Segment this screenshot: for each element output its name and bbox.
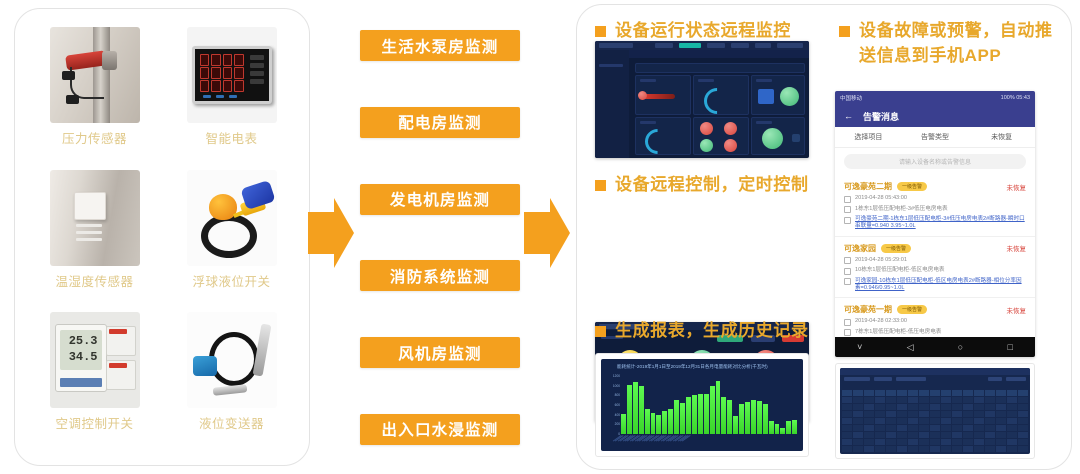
alarm-device: 7栋东1层低压配电柜-低压电房电表 <box>855 329 941 336</box>
table-row[interactable] <box>842 411 1028 417</box>
phone-filter-bar: 选择项目 告警类型 未恢复 <box>835 127 1035 148</box>
chart-bar <box>733 416 738 434</box>
info-icon <box>844 217 851 224</box>
dashboard-screenshot[interactable] <box>595 41 809 158</box>
scenario-button-water-pump-room[interactable]: 生活水泵房监测 <box>360 30 520 61</box>
chart-bar <box>792 420 797 435</box>
sensor-label: 空调控制开关 <box>55 413 133 432</box>
device-icon <box>844 329 851 336</box>
device-icon <box>844 268 851 275</box>
phone-nav-bar: ← 告警消息 <box>835 105 1035 127</box>
chart-bars <box>621 376 797 434</box>
chart-bar <box>745 402 750 434</box>
chart-bar <box>680 403 685 434</box>
chart-bar <box>751 400 756 434</box>
table-row[interactable] <box>842 397 1028 403</box>
chart-bar <box>645 409 650 434</box>
clock-icon <box>844 196 851 203</box>
chart-bar <box>639 386 644 434</box>
temperature-humidity-sensor-photo <box>50 170 140 266</box>
chart-bar <box>633 382 638 434</box>
chart-bar <box>692 395 697 434</box>
sensor-item-float-switch[interactable]: 浮球液位开关 <box>166 170 297 309</box>
sensor-item-smart-meter[interactable]: 智能电表 <box>166 27 297 166</box>
monitoring-scenario-list: 生活水泵房监测 配电房监测 发电机房监测 消防系统监测 风机房监测 出入口水浸监… <box>360 30 520 445</box>
sensor-label: 压力传感器 <box>62 128 127 147</box>
sensor-item-ac-switch[interactable]: 25.3 34.5 空调控制开关 <box>29 312 160 451</box>
chart-bar <box>627 385 632 434</box>
chart-y-tick: 800 <box>615 393 620 397</box>
chart-bar <box>786 421 791 434</box>
chart-bar <box>651 413 656 434</box>
table-row[interactable] <box>842 404 1028 410</box>
chart-bar <box>686 397 691 434</box>
chart-bar <box>704 394 709 434</box>
dashboard-card-pump <box>751 75 805 115</box>
feature-heading-control: 设备远程控制，定时控制 <box>595 173 831 198</box>
chevron-down-icon[interactable]: ˅ <box>857 342 862 352</box>
alarm-detail[interactable]: 可逸豪苑二期-1栋东1层低压配电柜-3#低压电房电表2#断路器-瞬时口串联量=0… <box>855 216 1026 231</box>
alarm-status-label: 未恢复 <box>1007 305 1027 315</box>
filter-alarm-type[interactable]: 告警类型 <box>902 132 969 142</box>
bullet-square-icon <box>595 180 606 191</box>
feature-heading-push: 设备故障或预警，自动推送信息到手机APP <box>839 19 1057 68</box>
sensor-label: 智能电表 <box>205 128 257 147</box>
table-row[interactable] <box>842 425 1028 431</box>
alarm-list-item[interactable]: 可逸家园 一级告警 未恢复 2019-04-28 05:29:01 10栋东1层… <box>835 237 1035 299</box>
alarm-project-name: 可逸家园 <box>844 243 876 254</box>
alarm-time: 2019-04-28 05:29:01 <box>855 257 907 264</box>
chart-bar <box>769 421 774 434</box>
air-conditioner-control-switch-photo: 25.3 34.5 <box>50 312 140 408</box>
table-row[interactable] <box>842 432 1028 438</box>
chart-bar <box>727 400 732 434</box>
phone-nav-title: 告警消息 <box>863 110 899 123</box>
battery-time-label: 100% 05:43 <box>1001 95 1030 101</box>
bullet-square-icon <box>839 26 850 37</box>
platform-features-panel: 设备运行状态远程监控 设备故障或预警，自动推送信息到手机APP <box>576 4 1072 470</box>
mobile-app-screenshot[interactable]: 中国移动 100% 05:43 ← 告警消息 选择项目 告警类型 未恢复 请输入… <box>835 91 1035 357</box>
alarm-project-name: 可逸豪苑一期 <box>844 304 892 315</box>
alarm-level-badge: 一级告警 <box>881 244 911 253</box>
chart-x-axis <box>621 435 797 449</box>
chart-bar <box>739 404 744 434</box>
back-triangle-icon[interactable]: ◁ <box>907 342 914 353</box>
sensor-item-temp-humidity[interactable]: 温湿度传感器 <box>29 170 160 309</box>
bullet-square-icon <box>595 26 606 37</box>
clock-icon <box>844 257 851 264</box>
table-row[interactable] <box>842 446 1028 452</box>
chart-y-tick: 1200 <box>613 374 620 378</box>
sensor-item-pressure[interactable]: 压力传感器 <box>29 27 160 166</box>
info-icon <box>844 278 851 285</box>
carrier-label: 中国移动 <box>840 94 862 102</box>
phone-system-nav: ˅ ◁ ○ □ <box>835 337 1035 357</box>
bullet-square-icon <box>595 326 606 337</box>
scenario-button-entrance-flood[interactable]: 出入口水浸监测 <box>360 414 520 445</box>
dashboard-card-cabinet <box>693 117 749 155</box>
chart-bar <box>698 394 703 434</box>
chart-canvas: 能耗统计-2019年1月1日至2019年12月31日各月电量能耗对比分析(千瓦时… <box>601 359 803 451</box>
alarm-device: 10栋东1层低压配电柜-低区电房电表 <box>855 267 945 274</box>
alarm-level-badge: 一级告警 <box>897 182 927 191</box>
scenario-button-distribution-room[interactable]: 配电房监测 <box>360 107 520 138</box>
alarm-device: 1栋东1层低压配电柜-3#低压电房电表 <box>855 206 948 213</box>
home-circle-icon[interactable]: ○ <box>958 342 963 352</box>
filter-status[interactable]: 未恢复 <box>968 132 1035 142</box>
chart-bar <box>621 414 626 434</box>
chart-bar <box>710 386 715 434</box>
table-row[interactable] <box>842 439 1028 445</box>
alarm-list-item[interactable]: 可逸豪苑一期 一级告警 未恢复 2019-04-28 02:33:00 7栋东1… <box>835 298 1035 342</box>
clock-icon <box>844 319 851 326</box>
chart-bar <box>662 411 667 434</box>
chart-bar <box>716 381 721 434</box>
alarm-time: 2019-04-28 05:43:00 <box>855 195 907 202</box>
energy-bar-chart-screenshot[interactable]: 能耗统计-2019年1月1日至2019年12月31日各月电量能耗对比分析(千瓦时… <box>595 353 809 457</box>
alarm-list-item[interactable]: 可逸豪苑二期 一级告警 未恢复 2019-04-28 05:43:00 1栋东1… <box>835 175 1035 237</box>
chart-bar <box>775 424 780 434</box>
alarm-time: 2019-04-28 02:33:00 <box>855 318 907 325</box>
infographic-stage: 压力传感器 智能电表 <box>0 0 1080 474</box>
level-transmitter-photo <box>187 312 277 408</box>
table-header-row <box>842 390 1028 396</box>
recents-square-icon[interactable]: □ <box>1007 342 1012 352</box>
chart-y-tick: 1000 <box>613 384 620 388</box>
sensor-grid: 压力传感器 智能电表 <box>29 27 297 451</box>
table-row[interactable] <box>842 418 1028 424</box>
phone-search-input[interactable]: 请输入设备名称或告警信息 <box>844 154 1026 169</box>
chart-bar <box>757 401 762 434</box>
chart-bar <box>656 415 661 434</box>
report-table <box>840 368 1030 454</box>
phone-status-bar: 中国移动 100% 05:43 <box>835 91 1035 105</box>
sensor-label: 温湿度传感器 <box>55 271 133 290</box>
chart-bar <box>674 400 679 434</box>
chart-bar <box>763 404 768 434</box>
chart-y-tick: 600 <box>615 403 620 407</box>
arrow-left-icon[interactable]: ← <box>844 111 853 121</box>
alarm-status-label: 未恢复 <box>1007 243 1027 253</box>
alarm-detail[interactable]: 可逸家园-10栋东1层低压配电柜-低区电房电表2#断路器-相位分率因素=0.94… <box>855 278 1026 293</box>
scenario-button-fire-system[interactable]: 消防系统监测 <box>360 260 520 291</box>
sensor-item-level-transmitter[interactable]: 液位变送器 <box>166 312 297 451</box>
alarm-status-label: 未恢复 <box>1007 182 1027 192</box>
dashboard-card-pressure <box>635 75 691 115</box>
feature-heading-report: 生成报表，生成历史记录 <box>595 319 831 344</box>
chart-bar <box>780 428 785 434</box>
scenario-button-fan-room[interactable]: 风机房监测 <box>360 337 520 368</box>
sensor-label: 浮球液位开关 <box>192 271 270 290</box>
filter-project[interactable]: 选择项目 <box>835 132 902 142</box>
chart-y-tick: 200 <box>615 422 620 426</box>
scenario-button-generator-room[interactable]: 发电机房监测 <box>360 184 520 215</box>
float-level-switch-photo <box>187 170 277 266</box>
smart-meter-photo <box>187 27 277 123</box>
sensor-devices-panel: 压力传感器 智能电表 <box>14 8 310 466</box>
report-table-screenshot[interactable] <box>835 363 1035 459</box>
chart-y-axis: 120010008006004002000 <box>605 374 620 436</box>
dashboard-card-level <box>635 117 691 155</box>
chart-bar <box>668 409 673 434</box>
feature-heading-dashboard: 设备运行状态远程监控 <box>595 19 835 44</box>
pressure-sensor-photo <box>50 27 140 123</box>
dashboard-card-flow <box>693 75 749 115</box>
sensor-label: 液位变送器 <box>199 413 264 432</box>
chart-title: 能耗统计-2019年1月1日至2019年12月31日各月电量能耗对比分析(千瓦时… <box>617 364 768 370</box>
alarm-project-name: 可逸豪苑二期 <box>844 181 892 192</box>
chart-bar <box>721 397 726 434</box>
alarm-level-badge: 一级告警 <box>897 305 927 314</box>
chart-y-tick: 400 <box>615 413 620 417</box>
device-icon <box>844 206 851 213</box>
dashboard-card-fan <box>751 117 805 155</box>
